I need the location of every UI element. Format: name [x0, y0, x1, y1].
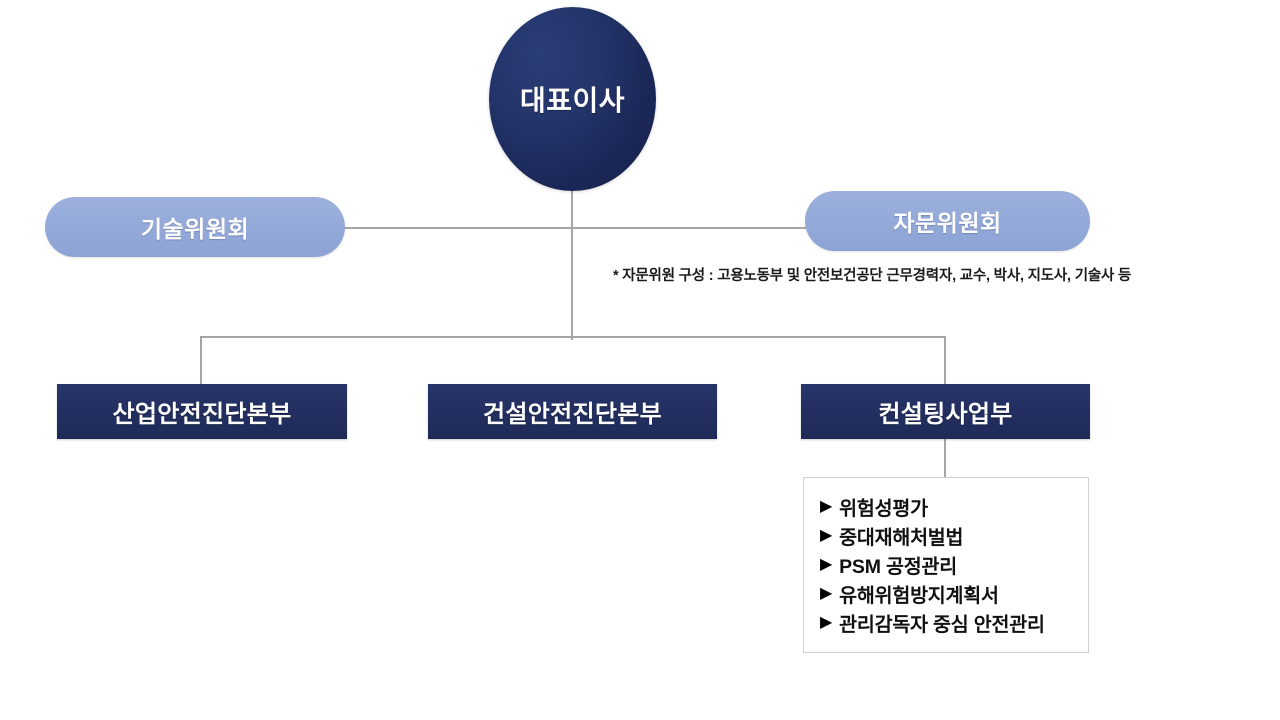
connector-drop-industrial: [200, 336, 202, 386]
list-item[interactable]: ▶ 유해위험방지계획서: [820, 579, 1088, 608]
list-item[interactable]: ▶ 관리감독자 중심 안전관리: [820, 608, 1088, 637]
node-advisory-committee-label: 자문위원회: [893, 204, 1001, 238]
node-technical-committee-label: 기술위원회: [141, 210, 249, 244]
triangle-right-icon: ▶: [820, 586, 832, 602]
node-industrial-safety-division-label: 산업안전진단본부: [112, 394, 291, 429]
list-item-label: 유해위험방지계획서: [839, 579, 999, 608]
consulting-services-list: ▶ 위험성평가 ▶ 중대재해처벌법 ▶ PSM 공정관리 ▶ 유해위험방지계획서…: [803, 477, 1089, 653]
list-item-label: PSM 공정관리: [839, 550, 957, 579]
node-consulting-division-label: 컨설팅사업부: [878, 394, 1012, 429]
node-construction-safety-division-label: 건설안전진단본부: [483, 394, 662, 429]
triangle-right-icon: ▶: [820, 557, 832, 573]
list-item-label: 관리감독자 중심 안전관리: [839, 608, 1045, 637]
node-ceo[interactable]: 대표이사: [489, 7, 656, 191]
list-item[interactable]: ▶ 위험성평가: [820, 492, 1088, 521]
connector-department-bus: [200, 336, 946, 338]
node-advisory-committee[interactable]: 자문위원회: [805, 191, 1090, 251]
triangle-right-icon: ▶: [820, 615, 832, 631]
triangle-right-icon: ▶: [820, 499, 832, 515]
node-construction-safety-division[interactable]: 건설안전진단본부: [428, 384, 717, 439]
node-ceo-label: 대표이사: [520, 79, 625, 119]
node-industrial-safety-division[interactable]: 산업안전진단본부: [57, 384, 347, 439]
connector-ceo-to-bus: [571, 228, 573, 340]
list-item[interactable]: ▶ 중대재해처벌법: [820, 521, 1088, 550]
connector-drop-consulting: [944, 336, 946, 386]
node-technical-committee[interactable]: 기술위원회: [45, 197, 345, 257]
list-item-label: 중대재해처벌법: [839, 521, 963, 550]
node-consulting-division[interactable]: 컨설팅사업부: [801, 384, 1090, 439]
triangle-right-icon: ▶: [820, 528, 832, 544]
connector-consulting-to-services: [944, 437, 946, 479]
connector-committee-horizontal: [330, 227, 820, 229]
advisory-committee-footnote: * 자문위원 구성 : 고용노동부 및 안전보건공단 근무경력자, 교수, 박사…: [613, 264, 1131, 285]
organization-chart: 대표이사 기술위원회 자문위원회 * 자문위원 구성 : 고용노동부 및 안전보…: [0, 0, 1280, 720]
list-item-label: 위험성평가: [839, 492, 928, 521]
list-item[interactable]: ▶ PSM 공정관리: [820, 550, 1088, 579]
